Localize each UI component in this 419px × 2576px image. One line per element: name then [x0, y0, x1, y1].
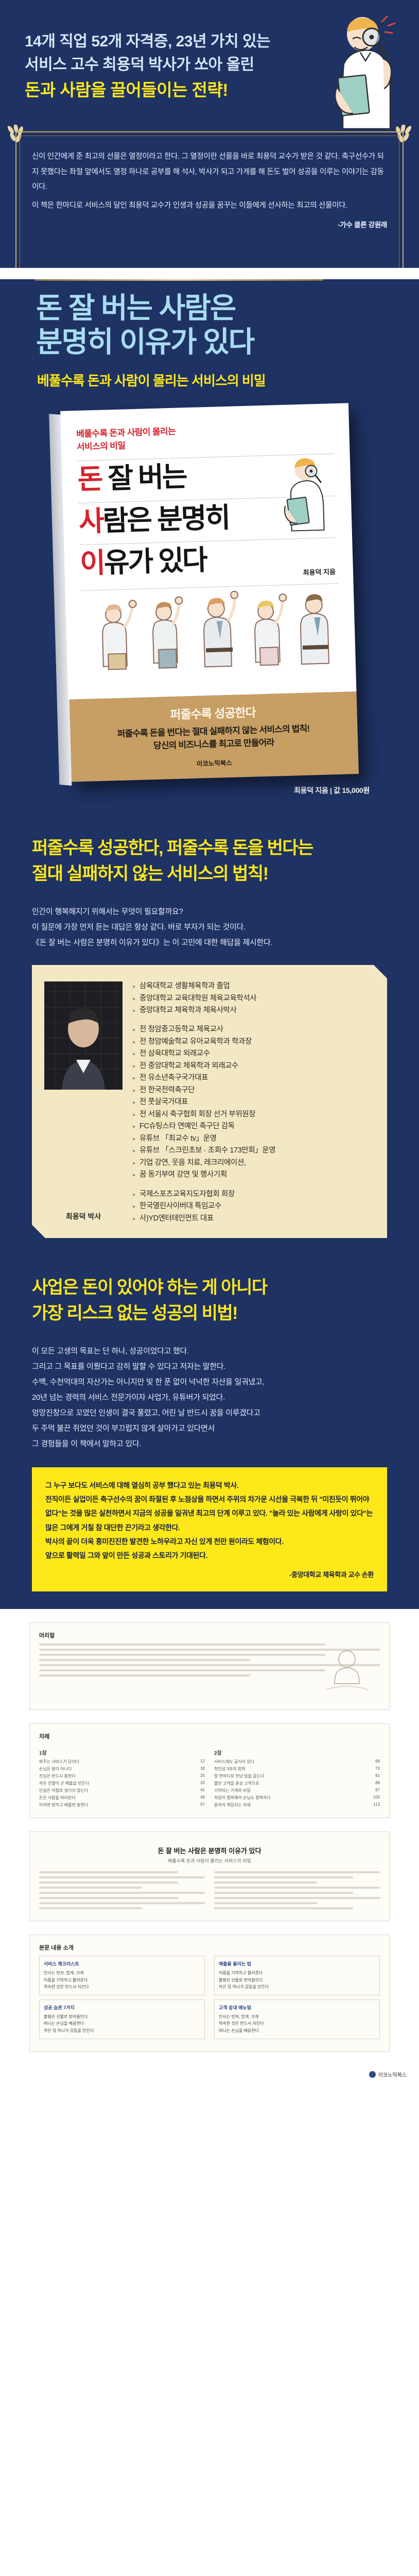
author-section: 최용덕 박사 삼육대학교 생활체육학과 졸업 중앙대학교 교육대학원 체육교육학…	[0, 961, 419, 1253]
book-cover-mockup: 베풀수록 돈과 사람이 몰리는 서비스의 비밀	[0, 389, 419, 814]
cred-item: 국제스포츠교육지도자협회 회장	[132, 1189, 374, 1200]
credentials-career: 전 청암중고등학교 체육교사 전 청암예술학교 유아교육학과 학과장 전 삼육대…	[132, 1024, 374, 1181]
cover-footer-band: 퍼줄수록 성공한다 퍼줄수록 돈을 번다는 절대 실패하지 않는 서비스의 법칙…	[68, 691, 359, 782]
preview-title-4: 본문 내용 소개	[39, 1943, 380, 1952]
cover-foot-headline: 퍼줄수록 성공한다	[81, 700, 345, 725]
preview-text-line	[39, 1654, 325, 1656]
toc-row: 손님은 왕이 아니다18	[39, 1766, 205, 1772]
headline-2: 사업은 돈이 있어야 하는 게 아니다 가장 리스크 없는 성공의 비법!	[0, 1253, 419, 1331]
main-subtitle: 베풀수록 돈과 사람이 몰리는 서비스의 비밀	[0, 359, 419, 389]
cred-item: 전 유소년축구국가대표	[132, 1072, 374, 1084]
preview-box-item: 인사는 먼저, 밝게, 크게	[219, 2013, 375, 2021]
toc-label: 단골은 저절로 생기지 않는다	[39, 1788, 88, 1793]
cover-publisher: 이코노믹북스	[82, 754, 346, 771]
toc-label: 직원이 행복해야 손님도 행복하다	[214, 1795, 271, 1801]
preview-text-line	[39, 1659, 250, 1661]
toc-label: 불만 고객을 충성 고객으로	[214, 1781, 259, 1786]
main-copy-line-3: 수백, 수천억대의 자산가는 아니지만 빚 한 푼 없이 넉넉한 자산을 일궈냈…	[32, 1375, 386, 1390]
toc-label: 첫인상 3초의 법칙	[214, 1766, 245, 1772]
toc-page: 57	[200, 1802, 205, 1808]
preview-page-toc: 차례 1장 퍼주는 서비스가 답이다12 손님은 왕이 아니다18 진심은 반드…	[29, 1723, 390, 1818]
toc-row: 아끼면 망하고 베풀면 흥한다57	[39, 1802, 205, 1808]
preview-box-title: 매출을 올리는 법	[219, 1960, 375, 1967]
toc-page: 25	[200, 1773, 205, 1779]
toc-page: 105	[373, 1795, 380, 1801]
toc-label: 아끼면 망하고 베풀면 흥한다	[39, 1802, 88, 1808]
toc-row: 첫인상 3초의 법칙73	[214, 1766, 380, 1772]
preview-box-item: 작은 덤 하나가 감동을 만든다	[44, 2027, 200, 2035]
preview-pages-section: 머리말 차례 1장 퍼주는 서비스가 답이다12 손님은 왕이 아니다18	[0, 1609, 419, 2052]
author-credentials: 삼육대학교 생활체육학과 졸업 중앙대학교 교육대학원 체육교육학석사 중앙대학…	[132, 978, 374, 1225]
hero-line-1: 14개 직업 52개 자격증, 23년 가치 있는	[25, 30, 349, 53]
preview-title-2: 차례	[39, 1732, 380, 1740]
cover-magnifier-man-icon	[275, 453, 339, 532]
publisher-brand: 이코노믹북스	[378, 2071, 407, 2078]
cred-item: 사)YD엔터테인먼트 대표	[132, 1213, 374, 1225]
toc-row: 퍼주는 서비스가 답이다12	[39, 1759, 205, 1765]
toc-right-heading: 2장	[214, 1749, 380, 1756]
cover-title-rest-3: 유가 있다	[103, 545, 206, 579]
headline-2-line-1: 사업은 돈이 있어야 하는 게 아니다	[32, 1275, 419, 1300]
toc-page: 66	[375, 1759, 380, 1765]
toc-row: 돈은 사람을 따라온다49	[39, 1795, 205, 1801]
toc-label: 끝까지 책임지는 자세	[214, 1802, 251, 1808]
box-column-right: 매출을 올리는 법 이름을 기억하고 불러준다 불평은 선물로 받아들인다 작은…	[214, 1956, 380, 2043]
toc-page: 73	[375, 1766, 380, 1772]
intro-line-1: 인간이 행복해지기 위해서는 무엇이 필요할까요?	[32, 904, 386, 920]
cred-item: 한국열린사이버대 특임교수	[132, 1200, 374, 1212]
preview-text-line	[39, 1892, 205, 1894]
preview-box-item: 떠나는 손님을 배웅한다	[219, 2027, 375, 2035]
preview-center-sub: 베풀수록 돈과 사람이 몰리는 서비스의 비밀	[39, 1857, 380, 1864]
headline-1: 퍼줄수록 성공한다, 퍼줄수록 돈을 번다는 절대 실패하지 않는 서비스의 법…	[0, 814, 419, 892]
toc-row: 불만 고객을 충성 고객으로89	[214, 1781, 380, 1786]
endorsement-signature: -가수 클론 강원래	[32, 218, 387, 232]
endorsement-paragraph-1: 신이 인간에게 준 최고의 선물은 열정이라고 한다. 그 열정이란 선물을 바…	[32, 149, 387, 195]
preview-text-line	[39, 1902, 205, 1904]
cover-kicker: 베풀수록 돈과 사람이 몰리는 서비스의 비밀	[76, 421, 334, 453]
preview-text-line	[214, 1876, 353, 1878]
toc-label: 작은 친절이 큰 매출을 만든다	[39, 1781, 89, 1786]
author-photo-wrap: 최용덕 박사	[44, 978, 123, 1225]
preview-box-title: 성공 습관 7가지	[44, 2004, 200, 2011]
toc-left-heading: 1장	[39, 1749, 205, 1756]
preview-box: 서비스 체크리스트 인사는 먼저, 밝게, 크게 이름을 기억하고 불러준다 약…	[39, 1956, 205, 1995]
preview-box-item: 이름을 기억하고 불러준다	[44, 1977, 200, 1984]
closing-line-2: 전직이든 실업이든 축구선수의 꿈이 좌절된 후 노점상을 하면서 주위의 차가…	[45, 1493, 374, 1535]
toc-row: 진심은 반드시 통한다25	[39, 1773, 205, 1779]
preview-text-line	[39, 1674, 250, 1676]
preview-text-line	[214, 1871, 380, 1873]
preview-box-item: 불평은 선물로 받아들인다	[219, 1977, 375, 1984]
main-copy-line-4: 20년 넘는 경력의 서비스 전문가이자 사업가, 유튜버가 되었다.	[32, 1390, 386, 1405]
preview-title-1: 머리말	[39, 1631, 380, 1639]
author-portrait-icon	[44, 981, 123, 1090]
hero-line-2: 서비스 고수 최용덕 박사가 쏘아 올린	[25, 53, 349, 76]
cred-item: 삼육대학교 생활체육학과 졸업	[132, 980, 374, 992]
main-copy-line-7: 그 경험들을 이 책에서 말하고 있다.	[32, 1436, 386, 1452]
cred-item: 유튜브 「최교수 tv」운영	[132, 1133, 374, 1145]
toc-page: 81	[375, 1773, 380, 1779]
toc-page: 49	[200, 1795, 205, 1801]
leaf-ornament-left-icon	[6, 125, 25, 145]
preview-text-line	[39, 1907, 142, 1909]
body-columns	[39, 1871, 380, 1912]
main-title: 돈 잘 버는 사람은 분명히 이유가 있다	[0, 281, 419, 359]
toc-row: 서비스에도 공식이 있다66	[214, 1759, 380, 1765]
intro-line-3: 《돈 잘 버는 사람은 분명히 이유가 있다》는 이 고민에 대한 해답을 제시…	[32, 935, 386, 951]
preview-box-item: 떠나는 손님을 배웅한다	[44, 2020, 200, 2027]
main-copy-line-2: 그리고 그 목표를 이뤘다고 감히 말할 수 있다고 저자는 말한다.	[32, 1359, 386, 1375]
cred-item: 전 청암예술학교 유아교육학과 학과장	[132, 1036, 374, 1048]
preview-box-item: 작은 덤 하나가 감동을 만든다	[219, 1984, 375, 1991]
endorsement-paragraph-2: 이 책은 한마디로 서비스의 달인 최용덕 교수가 인생과 성공을 꿈꾸는 이들…	[32, 198, 387, 214]
intro-line-2: 이 질문에 가장 먼저 듣는 대답은 항상 같다. 바로 부자가 되는 것이다.	[32, 920, 386, 935]
toc-page: 12	[200, 1759, 205, 1765]
preview-page-boxes: 본문 내용 소개 서비스 체크리스트 인사는 먼저, 밝게, 크게 이름을 기억…	[29, 1935, 390, 2052]
cred-item: 유튜브 「스크린초보 · 조회수 173만회」운영	[132, 1145, 374, 1157]
toc-label: 서비스에도 공식이 있다	[214, 1759, 254, 1765]
cred-item: 전 삼육대학교 외래교수	[132, 1048, 374, 1060]
toc-page: 33	[200, 1781, 205, 1786]
preview-box-item: 약속한 것은 반드시 지킨다	[219, 2020, 375, 2027]
headline-1-line-2: 절대 실패하지 않는 서비스의 법칙!	[32, 861, 419, 887]
main-title-line-2: 분명히 이유가 있다	[36, 325, 419, 359]
closing-section: 그 누구 보다도 서비스에 대해 열심히 공부 했다고 있는 최용덕 박사. 전…	[0, 1462, 419, 1609]
toc-columns: 1장 퍼주는 서비스가 답이다12 손님은 왕이 아니다18 진심은 반드시 통…	[39, 1744, 380, 1809]
preview-box-item: 인사는 먼저, 밝게, 크게	[44, 1970, 200, 1977]
preview-box-item: 이름을 기억하고 불러준다	[219, 1970, 375, 1977]
cred-item: 기업 강연, 웃음 치료, 레크리에이션,	[132, 1157, 374, 1169]
promo-page: 14개 직업 52개 자격증, 23년 가치 있는 서비스 고수 최용덕 박사가…	[0, 0, 419, 2091]
cover-title-red-3: 이	[80, 548, 104, 579]
preview-box-item: 약속한 것은 반드시 지킨다	[44, 1984, 200, 1991]
headline-section-1: 퍼줄수록 성공한다, 퍼줄수록 돈을 번다는 절대 실패하지 않는 서비스의 법…	[0, 814, 419, 961]
headline-section-2: 사업은 돈이 있어야 하는 게 아니다 가장 리스크 없는 성공의 비법! 이 …	[0, 1253, 419, 1462]
closing-line-4: 앞으로 활력일 그와 앞이 만든 성공과 스토리가 기대된다.	[45, 1549, 374, 1563]
preview-box-title: 서비스 체크리스트	[44, 1960, 200, 1967]
cred-item: FC슈팅스타 연예인 축구단 감독	[132, 1121, 374, 1132]
preview-page-foreword: 머리말	[29, 1622, 390, 1710]
preview-center-title: 돈 잘 버는 사람은 분명히 이유가 있다	[39, 1845, 380, 1855]
cred-item: 중앙대학교 체육학과 체육사박사	[132, 1005, 374, 1016]
body-column-right	[214, 1871, 380, 1912]
toc-column-right: 2장 서비스에도 공식이 있다66 첫인상 3초의 법칙73 말 한마디로 천냥…	[214, 1744, 380, 1809]
intro-copy: 인간이 행복해지기 위해서는 무엇이 필요할까요? 이 질문에 가장 먼저 듣는…	[0, 892, 419, 961]
preview-text-line	[39, 1887, 142, 1889]
preview-text-line	[214, 1907, 353, 1909]
magnifier-man-icon	[322, 10, 410, 129]
toc-page: 89	[375, 1781, 380, 1786]
credentials-current: 국제스포츠교육지도자협회 회장 한국열린사이버대 특임교수 사)YD엔터테인먼트…	[132, 1189, 374, 1225]
toc-label: 퍼주는 서비스가 답이다	[39, 1759, 79, 1765]
publisher-logo: 이코노믹북스	[369, 2071, 407, 2078]
preview-text-line	[214, 1892, 353, 1894]
preview-text-line	[214, 1887, 380, 1889]
closing-signature: -중앙대학교 체육학과 교수 손환	[45, 1568, 374, 1581]
toc-page: 113	[373, 1802, 380, 1808]
cover-title-rest-1: 잘 버는	[101, 462, 187, 495]
main-copy: 이 모든 고생의 목표는 단 하나, 성공이었다고 했다. 그리고 그 목표를 …	[0, 1331, 419, 1462]
author-name: 최용덕 박사	[44, 1211, 123, 1222]
toc-row: 단골은 저절로 생기지 않는다41	[39, 1788, 205, 1793]
cred-item: 전 중앙대학교 체육학과 외래교수	[132, 1060, 374, 1072]
main-copy-line-6: 두 주먹 불끈 쥐었던 것이 부끄럽지 않게 살아가고 있다면서	[32, 1421, 386, 1436]
headline-2-line-2: 가장 리스크 없는 성공의 비법!	[32, 1301, 419, 1326]
preview-text-line	[39, 1871, 178, 1873]
preview-text-line	[39, 1882, 178, 1884]
cred-item: 전 한국전력축구단	[132, 1084, 374, 1096]
preview-text-line	[39, 1876, 205, 1878]
toc-page: 97	[375, 1788, 380, 1793]
headline-1-line-1: 퍼줄수록 성공한다, 퍼줄수록 돈을 번다는	[32, 836, 419, 861]
box-columns: 서비스 체크리스트 인사는 먼저, 밝게, 크게 이름을 기억하고 불러준다 약…	[39, 1956, 380, 2043]
toc-column-left: 1장 퍼주는 서비스가 답이다12 손님은 왕이 아니다18 진심은 반드시 통…	[39, 1744, 205, 1809]
closing-line-3: 박사의 끝이 더욱 흥미진진한 발견한 노하우라고 자신 있게 천만 원이라도 …	[45, 1535, 374, 1549]
toc-row: 기억되는 가게의 비밀97	[214, 1788, 380, 1793]
preview-text-line	[39, 1643, 325, 1646]
body-column-left	[39, 1871, 205, 1912]
toc-page: 18	[200, 1766, 205, 1772]
endorsement-quote: 신이 인간에게 준 최고의 선물은 열정이라고 한다. 그 열정이란 선물을 바…	[32, 149, 387, 232]
toc-label: 진심은 반드시 통한다	[39, 1773, 76, 1779]
book-front-cover: 베풀수록 돈과 사람이 몰리는 서비스의 비밀	[60, 403, 356, 699]
main-title-line-1: 돈 잘 버는 사람은	[36, 291, 419, 325]
credentials-education: 삼육대학교 생활체육학과 졸업 중앙대학교 교육대학원 체육교육학석사 중앙대학…	[132, 980, 374, 1016]
toc-label: 말 한마디로 천냥 빚을 갚는다	[214, 1773, 264, 1779]
preview-page-body: 돈 잘 버는 사람은 분명히 이유가 있다 베풀수록 돈과 사람이 몰리는 서비…	[29, 1832, 390, 1921]
cover-title-red-2: 사	[78, 506, 103, 537]
leaf-ornament-right-icon	[394, 125, 413, 145]
toc-row: 끝까지 책임지는 자세113	[214, 1802, 380, 1808]
cred-item: 전 서울시 축구협회 회장 선거 부위원장	[132, 1109, 374, 1121]
main-copy-line-5: 엉망진창으로 꼬였던 인생이 결국 풀렸고, 어린 날 반드시 꿈을 이루겠다고	[32, 1405, 386, 1421]
cred-item-continuation: 꿈 동기부여 강연 및 행사기획	[132, 1169, 374, 1181]
book-3d: 베풀수록 돈과 사람이 몰리는 서비스의 비밀	[60, 403, 359, 782]
toc-label: 기억되는 가게의 비밀	[214, 1788, 251, 1793]
logo-dot-icon	[369, 2071, 376, 2078]
preview-box-title: 고객 응대 매뉴얼	[219, 2004, 375, 2011]
title-block: 돈 잘 버는 사람은 분명히 이유가 있다 베풀수록 돈과 사람이 몰리는 서비…	[0, 279, 419, 389]
preview-box: 고객 응대 매뉴얼 인사는 먼저, 밝게, 크게 약속한 것은 반드시 지킨다 …	[214, 1999, 380, 2039]
toc-row: 직원이 행복해야 손님도 행복하다105	[214, 1795, 380, 1801]
cheering-people-icon	[81, 587, 340, 671]
toc-row: 말 한마디로 천냥 빚을 갚는다81	[214, 1773, 380, 1779]
toc-row: 작은 친절이 큰 매출을 만든다33	[39, 1781, 205, 1786]
preview-text-line	[214, 1882, 317, 1884]
author-photo	[44, 981, 123, 1090]
cover-title-red-1: 돈	[77, 464, 102, 495]
closing-quote-box: 그 누구 보다도 서비스에 대해 열심히 공부 했다고 있는 최용덕 박사. 전…	[32, 1467, 387, 1591]
hero-line-3: 돈과 사람을 끌어들이는 전략!	[25, 77, 349, 103]
preview-box: 성공 습관 7가지 불평은 선물로 받아들인다 떠나는 손님을 배웅한다 작은 …	[39, 1999, 205, 2039]
hero-section: 14개 직업 52개 자격증, 23년 가치 있는 서비스 고수 최용덕 박사가…	[0, 0, 419, 268]
preview-text-line	[39, 1669, 325, 1671]
toc-page: 41	[200, 1788, 205, 1793]
main-copy-line-1: 이 모든 고생의 목표는 단 하나, 성공이었다고 했다.	[32, 1344, 386, 1359]
closing-line-1: 그 누구 보다도 서비스에 대해 열심히 공부 했다고 있는 최용덕 박사.	[45, 1479, 374, 1493]
page-footer: 이코노믹북스	[0, 2065, 419, 2091]
author-card: 최용덕 박사 삼육대학교 생활체육학과 졸업 중앙대학교 교육대학원 체육교육학…	[32, 965, 387, 1238]
cred-item: 중앙대학교 교육대학원 체육교육학석사	[132, 993, 374, 1005]
toc-label: 돈은 사람을 따라온다	[39, 1795, 76, 1801]
cover-title-rest-2: 람은 분명히	[102, 502, 230, 537]
cred-item: 전 청암중고등학교 체육교사	[132, 1024, 374, 1036]
preview-box-item: 불평은 선물로 받아들인다	[44, 2013, 200, 2021]
preview-text-line	[214, 1897, 380, 1899]
preview-text-line	[39, 1897, 178, 1899]
preview-box: 매출을 올리는 법 이름을 기억하고 불러준다 불평은 선물로 받아들인다 작은…	[214, 1956, 380, 1995]
cred-item: 전 풋살국가대표	[132, 1096, 374, 1108]
preview-text-line	[214, 1902, 317, 1904]
preview-doodle-icon	[316, 1643, 378, 1700]
toc-label: 손님은 왕이 아니다	[39, 1766, 72, 1772]
cheering-people-illustration	[81, 587, 340, 671]
box-column-left: 서비스 체크리스트 인사는 먼저, 밝게, 크게 이름을 기억하고 불러준다 약…	[39, 1956, 205, 2043]
hero-headline: 14개 직업 52개 자격증, 23년 가치 있는 서비스 고수 최용덕 박사가…	[25, 30, 349, 103]
